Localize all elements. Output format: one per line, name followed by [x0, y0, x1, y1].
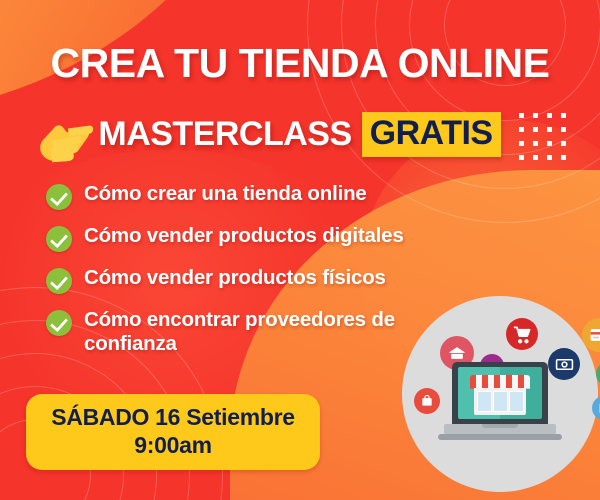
shop-awning [470, 375, 530, 388]
check-circle-icon [46, 310, 72, 336]
ecommerce-illustration [396, 292, 600, 500]
date-text: SÁBADO 16 Setiembre [36, 403, 310, 431]
list-item-label: Cómo vender productos digitales [84, 224, 404, 248]
laptop-lid [452, 362, 548, 425]
subtitle-row: MASTERCLASS GRATIS [0, 100, 600, 168]
list-item: Cómo crear una tienda online [46, 182, 466, 210]
shop-door [493, 391, 508, 412]
shopping-bag-bubble [414, 388, 440, 414]
shop-window [477, 391, 492, 412]
check-circle-icon [46, 226, 72, 252]
check-circle-icon [46, 184, 72, 210]
laptop-screen [458, 367, 542, 419]
check-circle-icon [46, 268, 72, 294]
list-item-label: Cómo vender productos físicos [84, 266, 386, 290]
list-item-label: Cómo encontrar proveedores de confianza [84, 308, 414, 356]
shopping-cart-bubble [506, 318, 538, 350]
time-text: 9:00am [36, 431, 310, 459]
laptop-icon [444, 362, 556, 450]
list-item: Cómo vender productos físicos [46, 266, 466, 294]
promo-poster: CREA TU TIENDA ONLINE MASTERCLASS GRATIS [0, 0, 600, 500]
list-item: Cómo vender productos digitales [46, 224, 466, 252]
storefront-icon [474, 375, 526, 415]
shop-body [474, 388, 526, 415]
list-item-label: Cómo crear una tienda online [84, 182, 367, 206]
gratis-badge: GRATIS [362, 112, 501, 157]
subtitle: MASTERCLASS [98, 115, 351, 154]
dot-grid-decoration [519, 113, 566, 160]
date-badge: SÁBADO 16 Setiembre 9:00am [26, 394, 320, 470]
headline: CREA TU TIENDA ONLINE [0, 40, 600, 87]
pointing-hand-icon [34, 116, 96, 168]
laptop-base-shadow [438, 434, 562, 440]
shop-window [509, 391, 524, 412]
